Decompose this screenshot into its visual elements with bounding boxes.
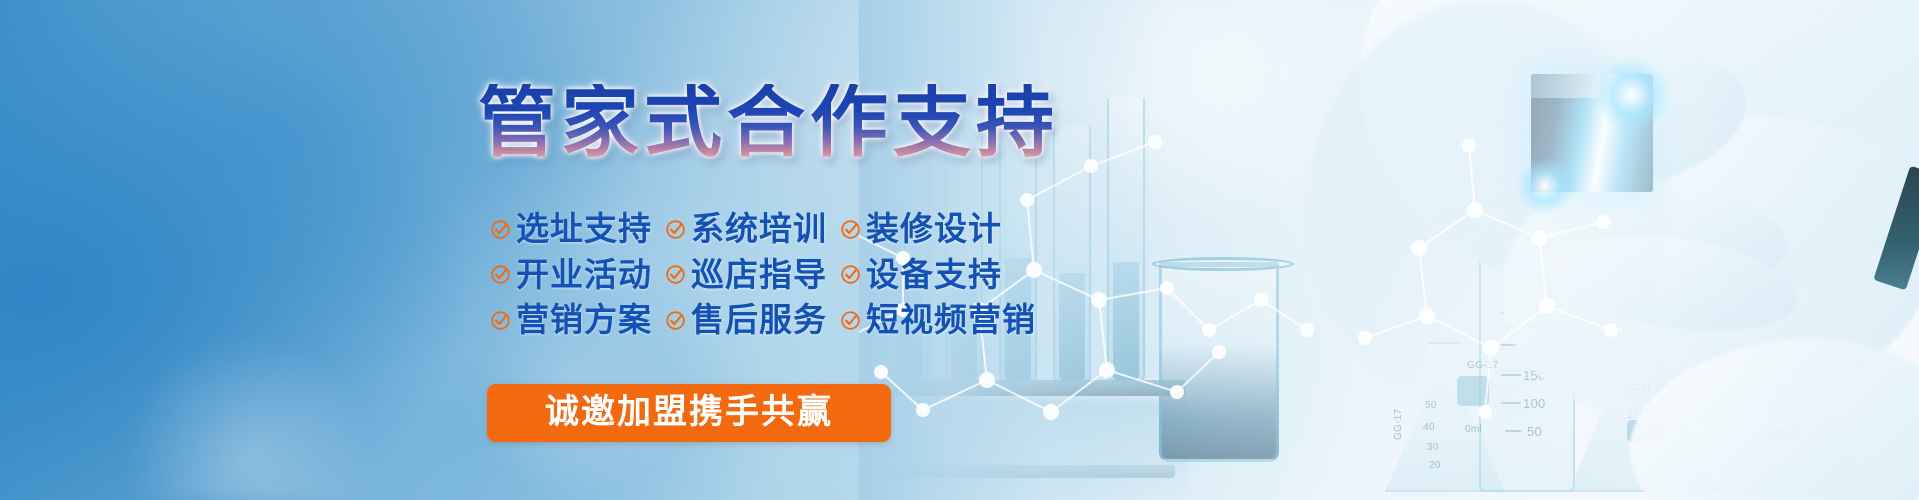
check-circle-icon — [665, 264, 686, 285]
feature-item-opening-event: 开业活动 — [490, 258, 665, 293]
franchise-support-banner: GG-17 50 40 30 20 250 APPROX 200 150 100… — [0, 0, 1919, 500]
support-feature-list: 选址支持 系统培训 装修设计 — [490, 212, 1030, 338]
feature-label: 短视频营销 — [866, 303, 1036, 338]
sample-vial-cap — [1531, 74, 1601, 98]
check-circle-icon — [490, 264, 511, 285]
feature-item-store-inspection: 巡店指导 — [665, 258, 840, 293]
check-circle-icon — [840, 219, 861, 240]
feature-item-site-selection: 选址支持 — [490, 212, 665, 247]
flask-marking: 20 — [1429, 460, 1441, 471]
flask-marking: 0ml — [1465, 424, 1482, 435]
feature-item-system-training: 系统培训 — [665, 212, 840, 247]
feature-item-equipment-support: 设备支持 — [840, 258, 1030, 293]
check-circle-icon — [840, 264, 861, 285]
feature-label: 设备支持 — [866, 258, 1002, 293]
feature-label: 售后服务 — [691, 303, 827, 338]
feature-label: 巡店指导 — [691, 258, 827, 293]
feature-label: 装修设计 — [866, 212, 1002, 247]
check-circle-icon — [665, 219, 686, 240]
feature-item-after-sales-service: 售后服务 — [665, 303, 840, 338]
feature-label: 营销方案 — [516, 303, 652, 338]
feature-item-short-video-marketing: 短视频营销 — [840, 303, 1030, 338]
feature-label: 选址支持 — [516, 212, 652, 247]
check-circle-icon — [840, 310, 861, 331]
feature-item-decoration-design: 装修设计 — [840, 212, 1030, 247]
flask-marking: 50 — [1527, 424, 1542, 439]
banner-content: 管家式合作支持 选址支持 系统培训 — [0, 0, 1100, 500]
feature-label: 开业活动 — [516, 258, 652, 293]
vial-highlight-glow — [1595, 58, 1669, 132]
page-title: 管家式合作支持 — [478, 84, 1059, 162]
check-circle-icon — [490, 219, 511, 240]
flask-marking: 40 — [1423, 422, 1435, 433]
vial-lower-glow — [1517, 158, 1573, 214]
beaker-illustration — [1159, 262, 1279, 462]
feature-item-marketing-plan: 营销方案 — [490, 303, 665, 338]
flask-marking: 30 — [1427, 442, 1439, 453]
feature-label: 系统培训 — [691, 212, 827, 247]
check-circle-icon — [665, 310, 686, 331]
flask-marking: GG-17 — [1393, 408, 1404, 440]
check-circle-icon — [490, 310, 511, 331]
join-franchise-button[interactable]: 诚邀加盟携手共赢 — [487, 384, 891, 442]
